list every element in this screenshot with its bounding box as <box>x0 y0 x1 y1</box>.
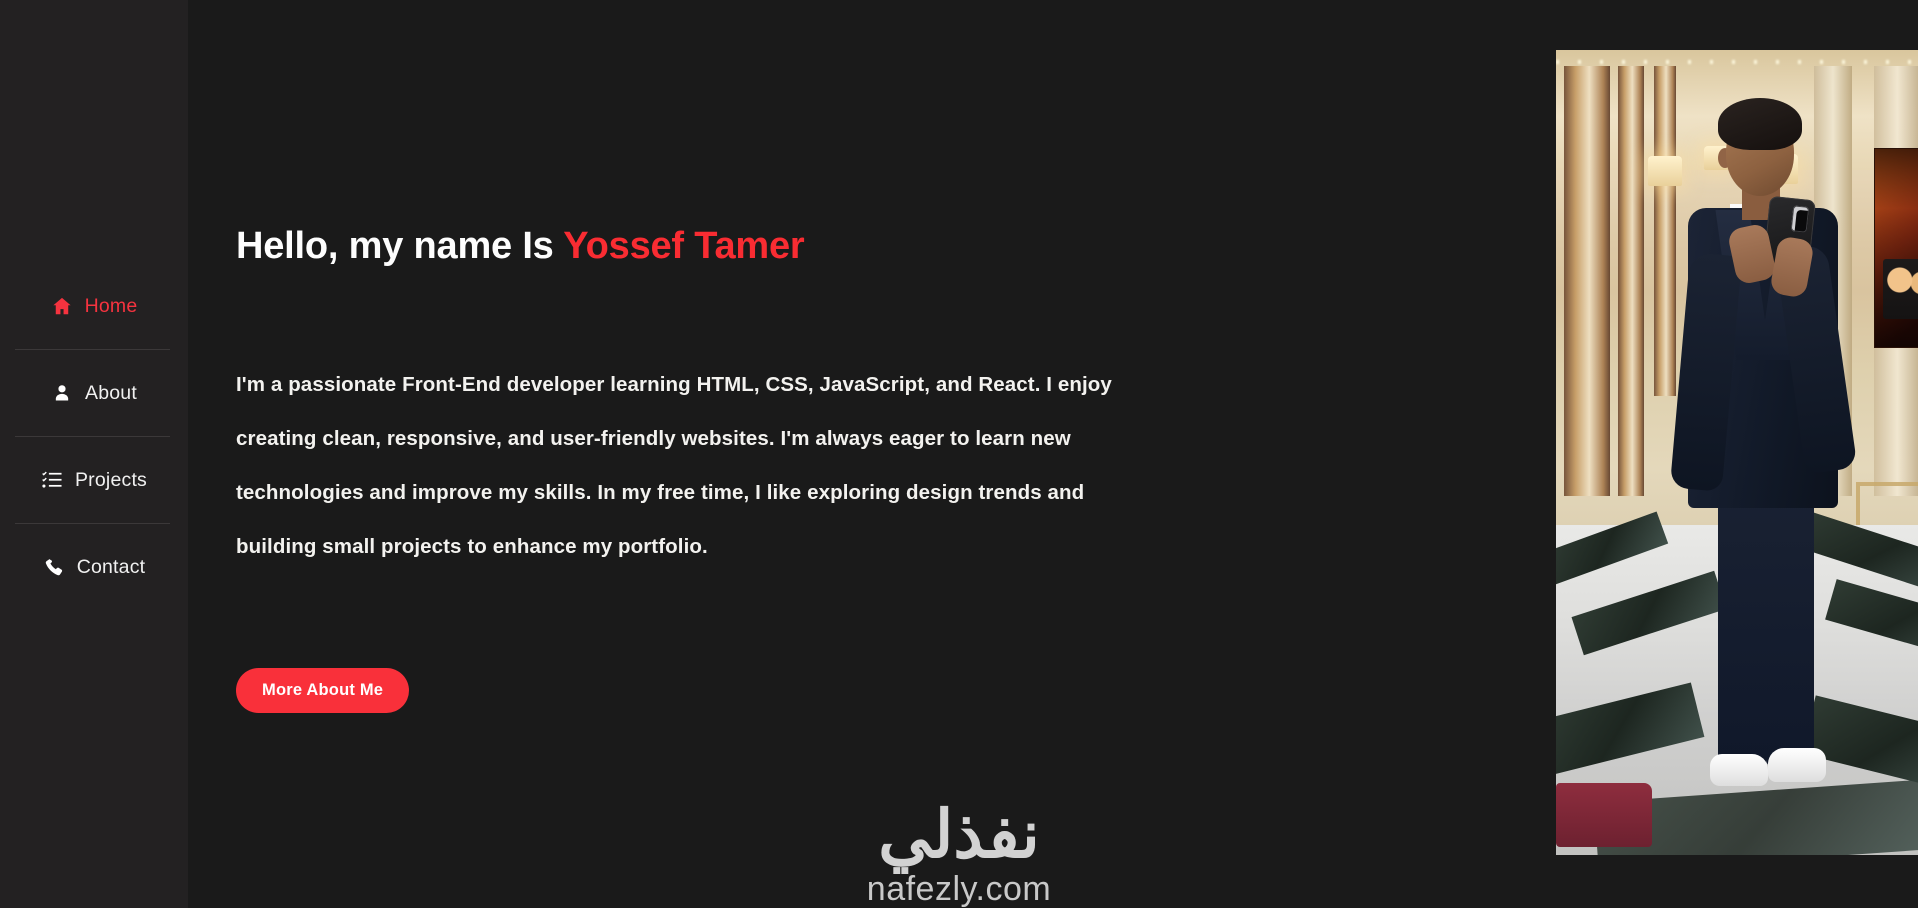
bio-paragraph: I'm a passionate Front-End developer lea… <box>236 358 1126 574</box>
sidebar-item-label-about: About <box>85 382 137 405</box>
lobby-poster <box>1874 148 1918 348</box>
main-content: Hello, my name Is Yossef Tamer I'm a pas… <box>188 0 1918 908</box>
portfolio-hero-page: Home About <box>0 0 1918 908</box>
person-shoe-right <box>1768 748 1826 782</box>
lobby-column <box>1618 66 1644 496</box>
red-ottoman <box>1556 783 1652 847</box>
person-shoe-left <box>1710 754 1768 786</box>
checklist-icon <box>41 469 63 491</box>
profile-photo <box>1556 50 1918 855</box>
headline-prefix: Hello, my name Is <box>236 225 563 267</box>
person-hair <box>1718 98 1802 150</box>
sidebar-item-projects[interactable]: Projects <box>0 454 188 506</box>
person-icon <box>51 382 73 404</box>
sidebar-item-home[interactable]: Home <box>0 280 188 332</box>
person-figure <box>1674 86 1850 846</box>
headline-name: Yossef Tamer <box>563 225 804 267</box>
sidebar-item-label-home: Home <box>85 295 138 318</box>
sidebar-divider-2 <box>15 436 170 437</box>
sidebar-block-contact: Contact <box>0 541 188 593</box>
sidebar-navigation: Home About <box>0 0 188 908</box>
sidebar-divider-1 <box>15 349 170 350</box>
sidebar-block-projects: Projects <box>0 454 188 541</box>
lobby-column <box>1564 66 1610 496</box>
phone-icon <box>43 556 65 578</box>
home-icon <box>51 295 73 317</box>
profile-photo-inner <box>1556 50 1918 855</box>
sidebar-block-home: Home <box>0 280 188 367</box>
sidebar-block-about: About <box>0 367 188 454</box>
page-title: Hello, my name Is Yossef Tamer <box>236 225 804 268</box>
person-leg-left <box>1718 466 1766 766</box>
lobby-column <box>1654 66 1676 396</box>
sidebar-item-label-contact: Contact <box>77 556 146 579</box>
sidebar-divider-3 <box>15 523 170 524</box>
sidebar-item-label-projects: Projects <box>75 469 147 492</box>
sidebar-item-contact[interactable]: Contact <box>0 541 188 593</box>
sidebar-item-about[interactable]: About <box>0 367 188 419</box>
more-about-me-button[interactable]: More About Me <box>236 668 409 713</box>
person-leg-right <box>1766 466 1814 766</box>
